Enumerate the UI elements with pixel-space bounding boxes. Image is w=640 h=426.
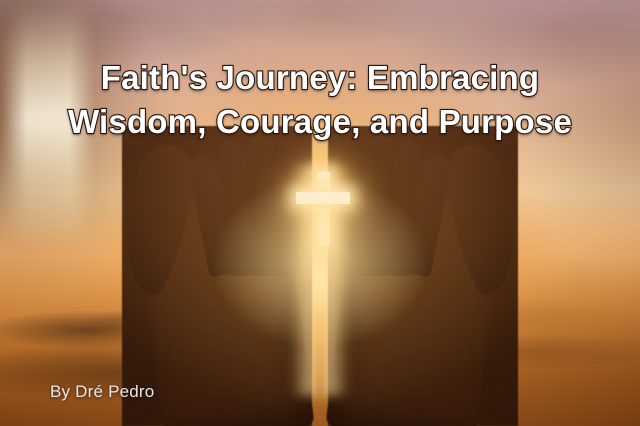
author-byline: By Dré Pedro (50, 382, 154, 402)
hand-right-silhouette (328, 126, 518, 426)
hand-left-silhouette (122, 126, 312, 426)
cross-vertical-bar (317, 172, 330, 246)
book-cover: Faith's Journey: Embracing Wisdom, Coura… (0, 0, 640, 426)
cross-horizontal-bar (296, 192, 350, 204)
light-shaft (0, 0, 96, 250)
cross-icon (296, 172, 350, 246)
